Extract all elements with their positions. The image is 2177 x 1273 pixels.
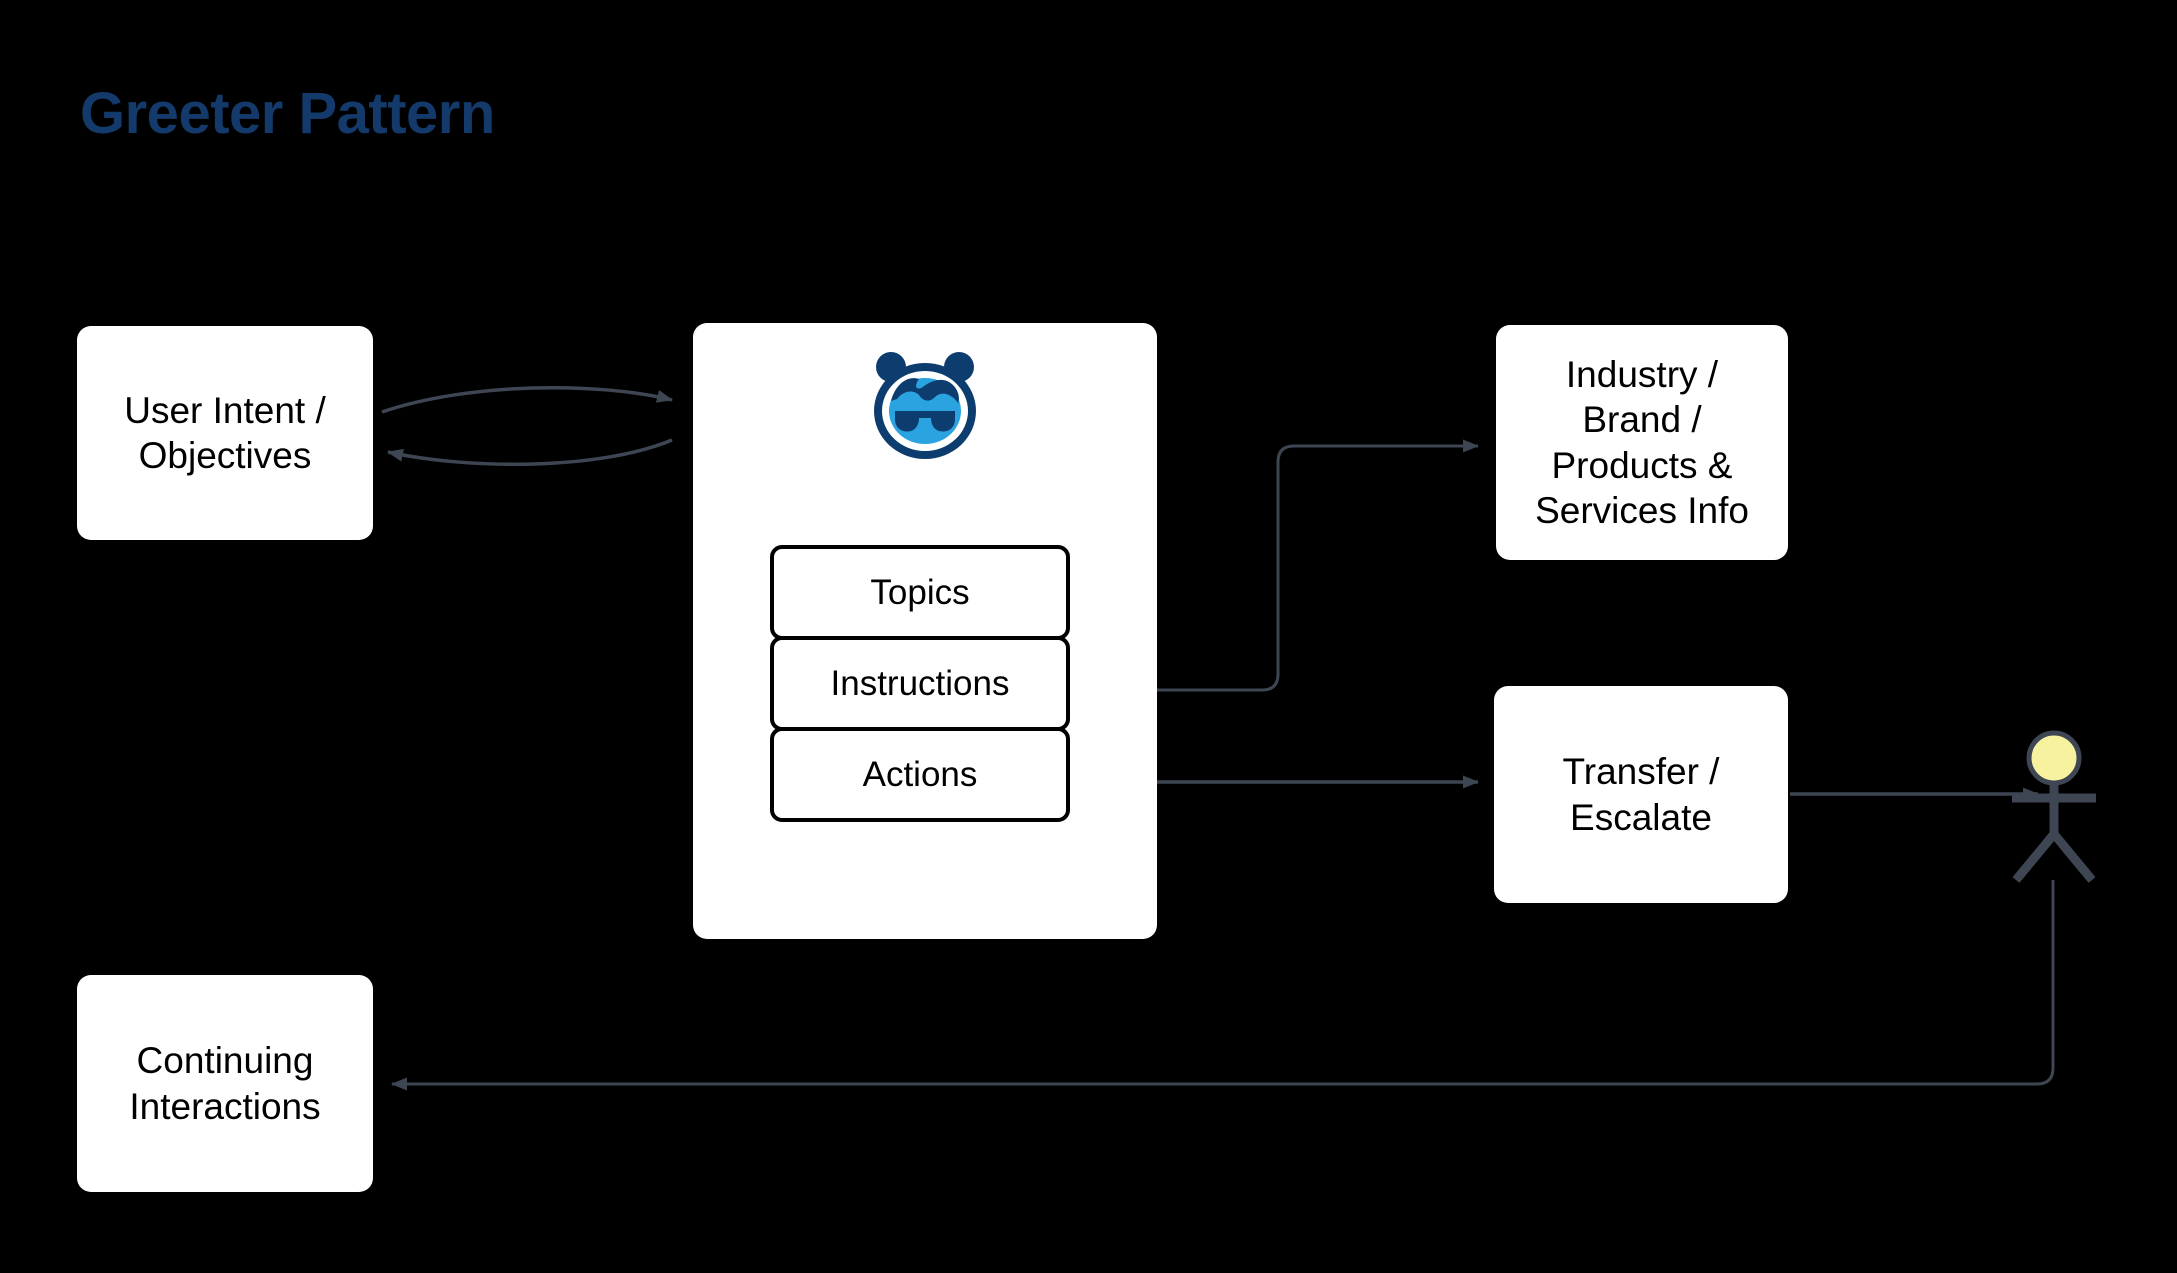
- node-continuing-label: Continuing Interactions: [129, 1038, 320, 1128]
- node-transfer-line2: Escalate: [1563, 795, 1720, 840]
- node-industry-line2: Brand /: [1535, 397, 1749, 442]
- node-user-intent-line2: Objectives: [124, 433, 326, 478]
- node-industry-line4: Services Info: [1535, 488, 1749, 533]
- capability-actions[interactable]: Actions: [770, 727, 1070, 822]
- node-user-intent-objectives[interactable]: User Intent / Objectives: [77, 326, 373, 540]
- capability-actions-label: Actions: [863, 755, 978, 795]
- node-user-intent-line1: User Intent /: [124, 388, 326, 433]
- node-user-intent-label: User Intent / Objectives: [124, 388, 326, 478]
- bot-avatar-icon: [863, 345, 987, 463]
- capability-instructions[interactable]: Instructions: [770, 636, 1070, 731]
- capability-topics-label: Topics: [870, 573, 969, 613]
- node-transfer-escalate[interactable]: Transfer / Escalate: [1494, 686, 1788, 903]
- node-industry-brand-products-services[interactable]: Industry / Brand / Products & Services I…: [1496, 325, 1788, 560]
- connector-actor-to-continuing: [392, 880, 2053, 1084]
- node-transfer-label: Transfer / Escalate: [1563, 749, 1720, 839]
- connector-bot-to-user-intent: [388, 440, 672, 464]
- node-continuing-interactions[interactable]: Continuing Interactions: [77, 975, 373, 1192]
- capability-stack: Topics Instructions Actions: [770, 545, 1070, 822]
- connector-user-intent-to-bot: [382, 388, 672, 412]
- node-continuing-line2: Interactions: [129, 1084, 320, 1129]
- node-industry-line1: Industry /: [1535, 352, 1749, 397]
- node-industry-label: Industry / Brand / Products & Services I…: [1535, 352, 1749, 533]
- human-agent-actor-icon: [1990, 730, 2120, 890]
- bot-agent-panel[interactable]: Topics Instructions Actions: [693, 323, 1157, 939]
- node-continuing-line1: Continuing: [129, 1038, 320, 1083]
- node-transfer-line1: Transfer /: [1563, 749, 1720, 794]
- capability-instructions-label: Instructions: [831, 664, 1010, 704]
- node-industry-line3: Products &: [1535, 443, 1749, 488]
- capability-topics[interactable]: Topics: [770, 545, 1070, 640]
- page-title: Greeter Pattern: [80, 80, 495, 147]
- diagram-canvas: Greeter Pattern User Intent / Objectives: [0, 0, 2177, 1273]
